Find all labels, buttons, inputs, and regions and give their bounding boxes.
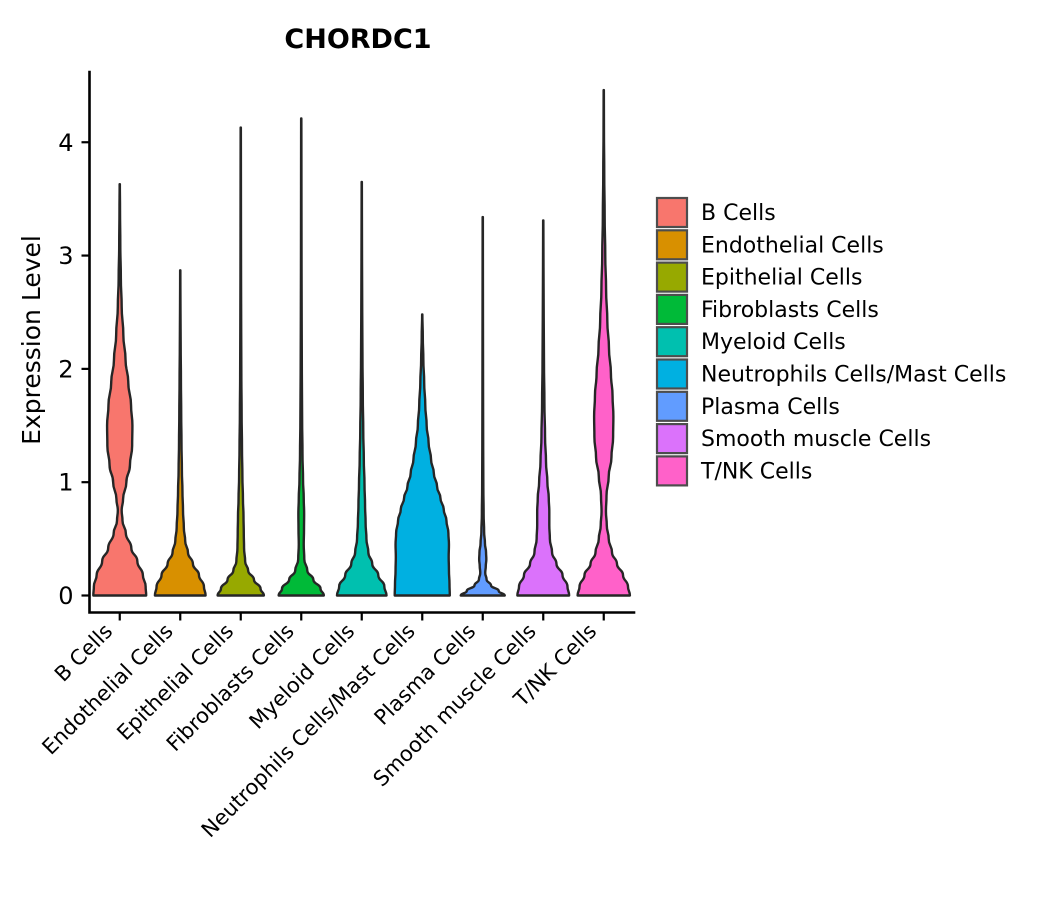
legend-label: Neutrophils Cells/Mast Cells xyxy=(701,363,1006,388)
legend-item[interactable]: Neutrophils Cells/Mast Cells xyxy=(657,360,1006,389)
legend-swatch xyxy=(657,392,687,421)
y-tick-label: 3 xyxy=(58,242,73,270)
plot-canvas: CHORDC1 Expression Level 01234 B CellsEn… xyxy=(0,0,1057,900)
y-tick-label: 1 xyxy=(58,469,73,497)
legend-swatch xyxy=(657,456,687,485)
legend-label: T/NK Cells xyxy=(700,459,812,484)
y-tick-label: 0 xyxy=(58,582,73,610)
legend-item[interactable]: Myeloid Cells xyxy=(657,327,846,356)
legend-swatch xyxy=(657,263,687,292)
violin-plot-figure: CHORDC1 Expression Level 01234 B CellsEn… xyxy=(0,0,1057,900)
legend-item[interactable]: Plasma Cells xyxy=(657,392,840,421)
legend-label: Endothelial Cells xyxy=(701,233,884,258)
page-title: CHORDC1 xyxy=(284,24,431,55)
legend-item[interactable]: B Cells xyxy=(657,198,776,227)
y-axis-label: Expression Level xyxy=(17,235,46,445)
legend-item[interactable]: Epithelial Cells xyxy=(657,263,862,292)
legend-swatch xyxy=(657,327,687,356)
legend-label: Smooth muscle Cells xyxy=(701,427,931,452)
legend-label: Epithelial Cells xyxy=(701,266,862,291)
legend-item[interactable]: T/NK Cells xyxy=(657,456,812,485)
legend-swatch xyxy=(657,198,687,227)
legend-label: Plasma Cells xyxy=(701,395,840,420)
y-tick-label: 4 xyxy=(58,129,73,157)
legend-swatch xyxy=(657,230,687,259)
legend-label: Fibroblasts Cells xyxy=(701,298,879,323)
legend-label: Myeloid Cells xyxy=(701,330,846,355)
legend-swatch xyxy=(657,295,687,324)
legend-swatch xyxy=(657,360,687,389)
y-tick-label: 2 xyxy=(58,355,73,383)
legend-label: B Cells xyxy=(701,201,776,226)
legend-swatch xyxy=(657,424,687,453)
